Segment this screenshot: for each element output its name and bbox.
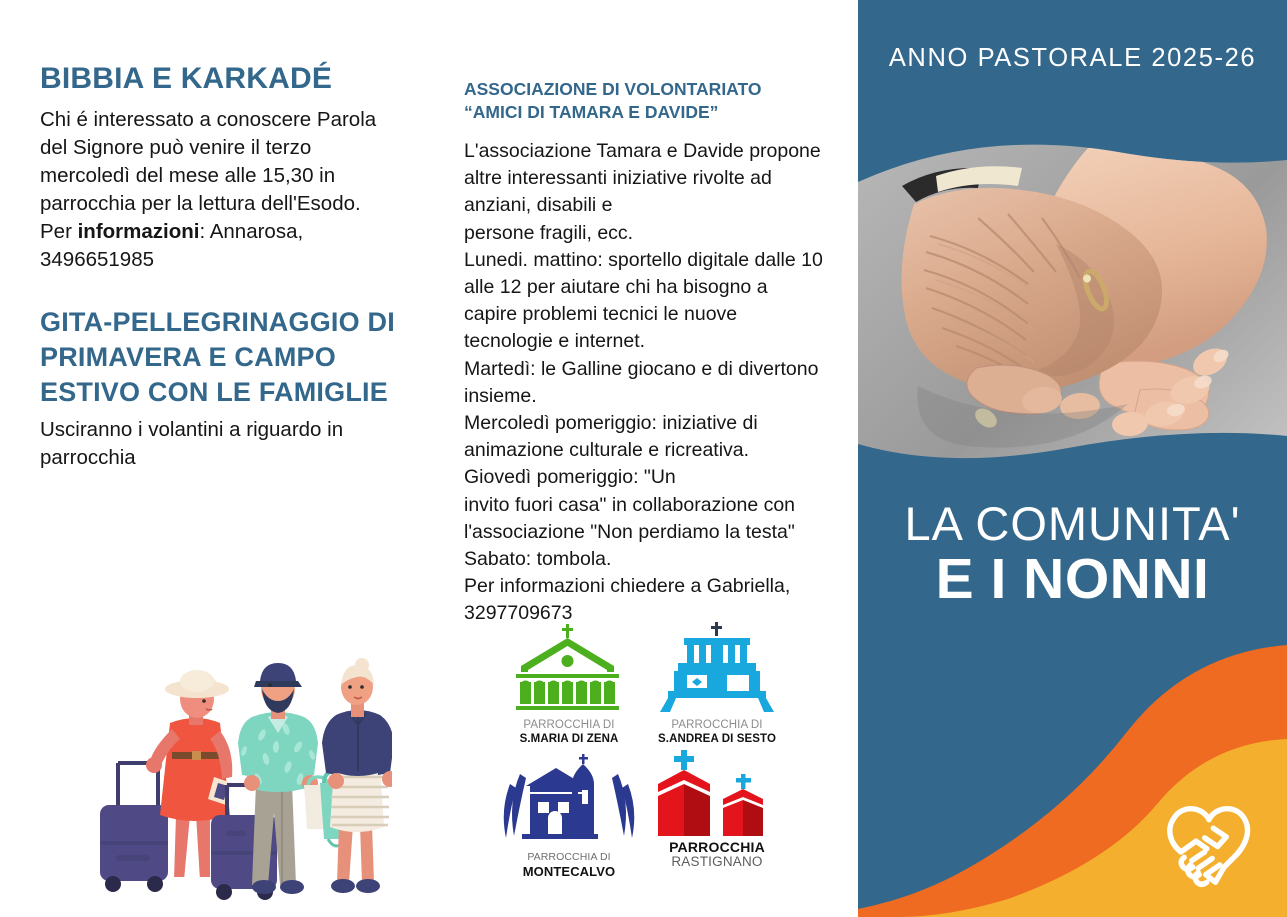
parish-logo-caption-line2: S.MARIA DI ZENA (496, 733, 642, 747)
parish-logo-montecalvo: PARROCCHIA DI MONTECALVO (496, 750, 642, 878)
handshake-heart-icon (1155, 785, 1263, 893)
bibbia-body-bold: informazioni (78, 220, 200, 243)
parish-logo-caption-line1: PARROCCHIA DI (496, 719, 642, 733)
church-logo-icon (496, 622, 642, 714)
parish-logo-caption-line2: S.ANDREA DI SESTO (644, 733, 790, 747)
parish-logo-caption-line2: RASTIGNANO (644, 855, 790, 869)
parish-logo-caption-line1: PARROCCHIA DI (644, 719, 790, 733)
panel-kicker-anno-pastorale: ANNO PASTORALE 2025-26 (858, 44, 1287, 73)
section-body-associazione: L'associazione Tamara e Davide propone a… (464, 138, 826, 628)
church-logo-icon (644, 750, 790, 836)
panel-title-line-1: LA COMUNITA' (858, 498, 1287, 550)
brochure-page: BIBBIA E KARKADÉ Chi é interessato a con… (0, 0, 1287, 917)
section-associazione-volontariato: ASSOCIAZIONE DI VOLONTARIATO “AMICI DI T… (464, 78, 826, 628)
section-body-bibbia: Chi é interessato a conoscere Parola del… (40, 106, 400, 274)
section-body-gita: Usciranno i volantini a riguardo in parr… (40, 416, 400, 472)
parish-logo-rastignano: PARROCCHIA RASTIGNANO (644, 750, 790, 868)
section-bibbia-e-karkade: BIBBIA E KARKADÉ Chi é interessato a con… (40, 62, 400, 274)
parish-logo-s-maria-di-zena: PARROCCHIA DI S.MARIA DI ZENA (496, 622, 642, 746)
parish-logo-caption-line1: PARROCCHIA (644, 841, 790, 855)
panel-title-line-2: E I NONNI (858, 550, 1287, 608)
section-title-bibbia: BIBBIA E KARKADÉ (40, 62, 400, 96)
section-title-gita: GITA-PELLEGRINAGGIO DI PRIMAVERA E CAMPO… (40, 305, 400, 410)
church-logo-icon (644, 622, 790, 714)
right-cover-panel: ANNO PASTORALE 2025-26 (858, 0, 1287, 917)
parish-logo-s-andrea-di-sesto: PARROCCHIA DI S.ANDREA DI SESTO (644, 622, 790, 746)
section-title-associazione: ASSOCIAZIONE DI VOLONTARIATO “AMICI DI T… (464, 78, 826, 124)
church-logo-icon (496, 750, 642, 846)
panel-title: LA COMUNITA' E I NONNI (858, 498, 1287, 608)
parish-logos-group: PARROCCHIA DI S.MARIA DI ZENA (492, 622, 792, 882)
parish-logo-caption-line1: PARROCCHIA DI (496, 851, 642, 865)
elderly-hands-photo (858, 118, 1287, 500)
parish-logo-caption-line2: MONTECALVO (496, 865, 642, 879)
section-gita-pellegrinaggio: GITA-PELLEGRINAGGIO DI PRIMAVERA E CAMPO… (40, 305, 400, 472)
travellers-illustration-icon (96, 655, 392, 900)
